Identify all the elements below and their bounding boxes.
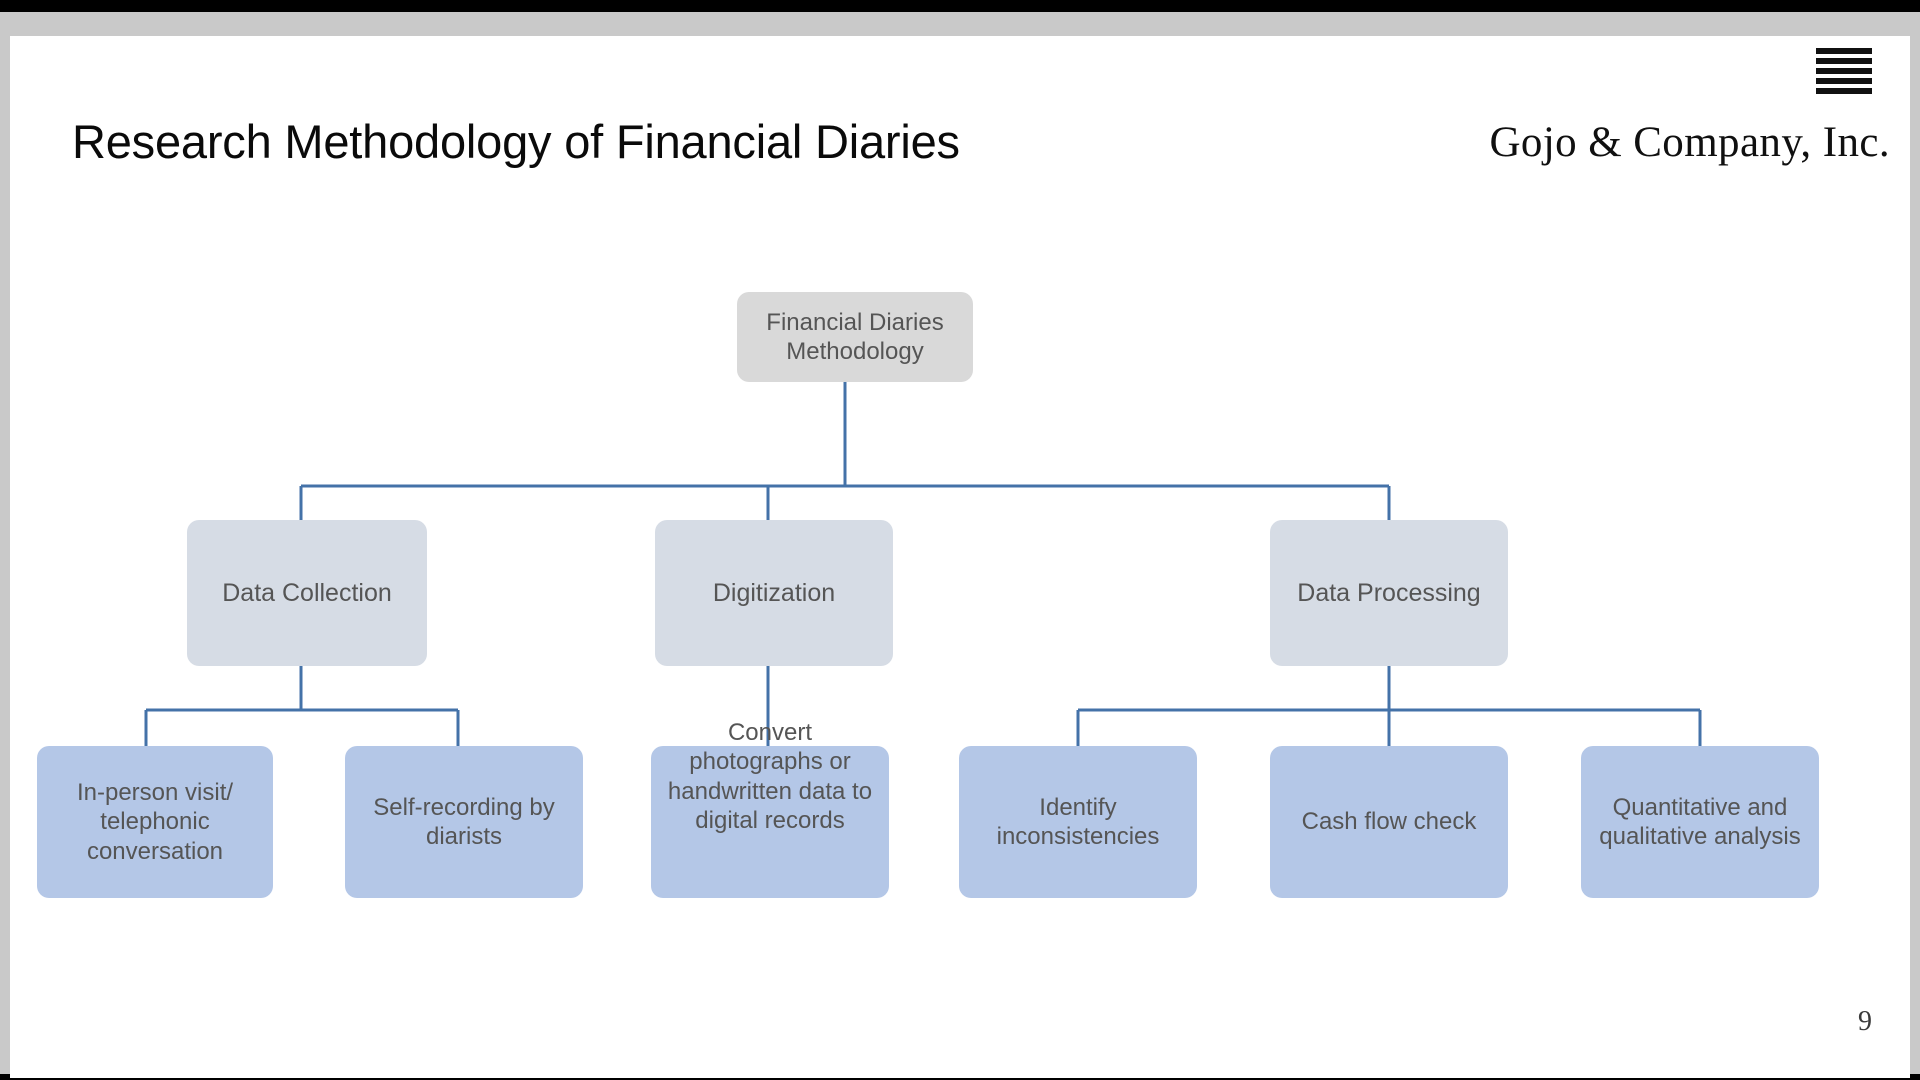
node-self-recording[interactable]: Self-recording by diarists (345, 746, 583, 898)
node-label: Data Processing (1278, 578, 1500, 609)
page-number: 9 (1858, 1006, 1872, 1038)
node-convert-records[interactable]: Convert photographs or handwritten data … (651, 746, 889, 898)
methodology-org-chart: Financial Diaries Methodology Data Colle… (10, 36, 1910, 1078)
node-data-processing[interactable]: Data Processing (1270, 520, 1508, 666)
node-label: Digitization (663, 578, 885, 609)
slide-border: Research Methodology of Financial Diarie… (0, 12, 1920, 1074)
node-label: Convert photographs or handwritten data … (659, 718, 881, 835)
node-label: Financial Diaries Methodology (745, 308, 965, 367)
slide-frame: Research Methodology of Financial Diarie… (0, 0, 1920, 1080)
node-digitization[interactable]: Digitization (655, 520, 893, 666)
node-label: Quantitative and qualitative analysis (1589, 793, 1811, 852)
node-quant-qual-analysis[interactable]: Quantitative and qualitative analysis (1581, 746, 1819, 898)
node-cash-flow-check[interactable]: Cash flow check (1270, 746, 1508, 898)
node-label: Identify inconsistencies (967, 793, 1189, 852)
node-in-person-visit[interactable]: In-person visit/ telephonic conversation (37, 746, 273, 898)
node-data-collection[interactable]: Data Collection (187, 520, 427, 666)
node-financial-diaries-methodology[interactable]: Financial Diaries Methodology (737, 292, 973, 382)
slide-canvas: Research Methodology of Financial Diarie… (10, 36, 1910, 1078)
node-identify-inconsistencies[interactable]: Identify inconsistencies (959, 746, 1197, 898)
node-label: In-person visit/ telephonic conversation (45, 778, 265, 866)
node-label: Data Collection (195, 578, 419, 609)
node-label: Self-recording by diarists (353, 793, 575, 852)
node-label: Cash flow check (1278, 807, 1500, 836)
